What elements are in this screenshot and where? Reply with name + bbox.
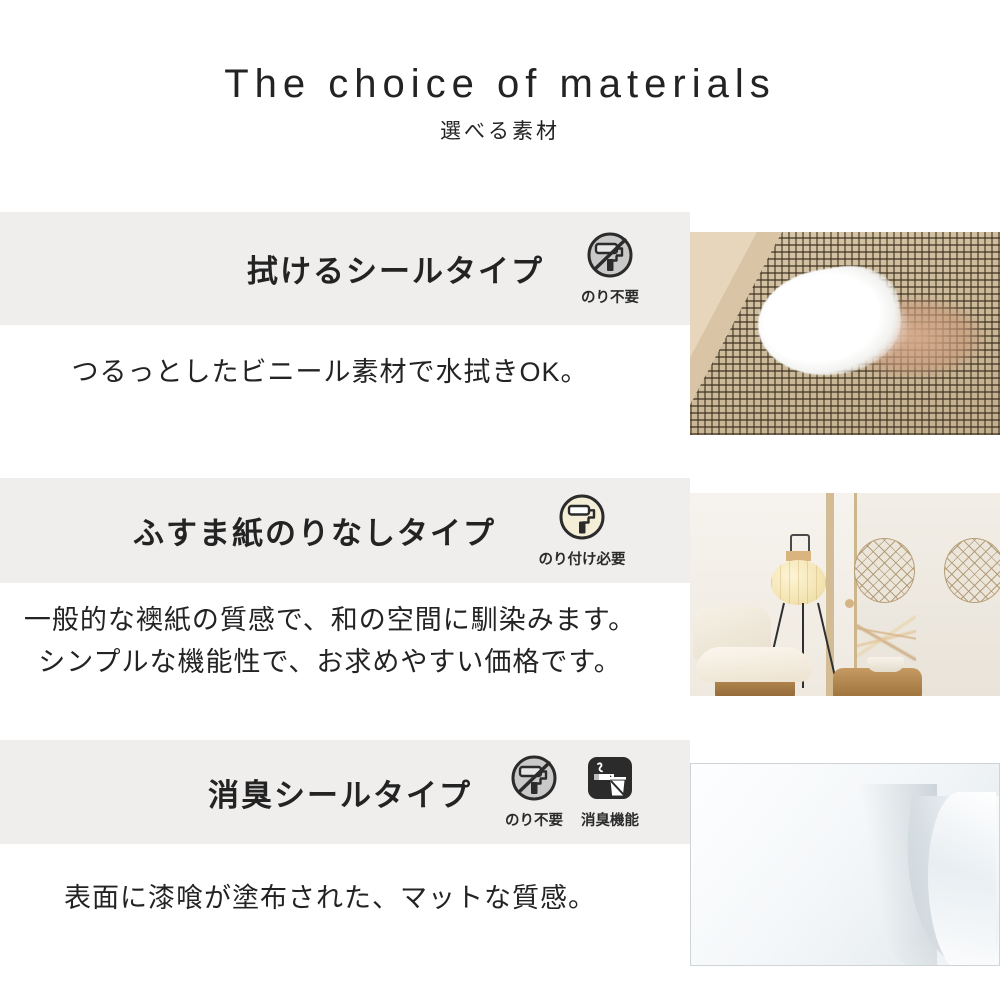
description-line: 一般的な襖紙の質感で、和の空間に馴染みます。 (0, 600, 660, 642)
section-header-2: ふすま紙のりなしタイプ のり付け必要 (0, 478, 660, 583)
page-header: The choice of materials 選べる素材 (0, 0, 1000, 200)
badge-label: のり不要 (581, 286, 639, 307)
dried-plant (857, 615, 916, 662)
section-title: ふすま紙のりなしタイプ (133, 508, 496, 553)
badge-no-glue: のり不要 (578, 231, 642, 307)
section-title: 消臭シールタイプ (208, 770, 472, 815)
section-description-3: 表面に漆喰が塗布された、マットな質感。 (0, 878, 660, 920)
no-glue-roller-icon (508, 754, 560, 806)
section-header-1: 拭けるシールタイプ のり不要 (0, 212, 660, 325)
badge-glue-required: のり付け必要 (522, 493, 642, 569)
badge-deodorize: 消臭機能 (578, 754, 642, 830)
badge-label: のり不要 (505, 809, 563, 830)
page-subtitle: 選べる素材 (0, 115, 1000, 145)
deodorize-icon (584, 754, 636, 806)
description-line: シンプルな機能性で、お求めやすい価格です。 (0, 642, 660, 684)
section-title: 拭けるシールタイプ (247, 246, 544, 291)
sheet-curl-edge (928, 792, 996, 966)
photo-japanese-interior (690, 493, 1000, 696)
photo-white-curling-sheet (690, 763, 1000, 966)
lattice-circle (854, 538, 915, 603)
description-line: 表面に漆喰が塗布された、マットな質感。 (0, 878, 660, 920)
description-line: つるっとしたビニール素材で水拭きOK。 (0, 352, 660, 394)
badge-label: のり付け必要 (539, 548, 626, 569)
badge-no-glue: のり不要 (502, 754, 566, 830)
lattice-circle (944, 538, 1000, 603)
glue-roller-icon (556, 493, 608, 545)
section-header-3: 消臭シールタイプ のり不要 (0, 740, 660, 844)
no-glue-roller-icon (584, 231, 636, 283)
plant-pot (867, 657, 904, 671)
lantern-shade (771, 560, 827, 605)
badge-group: のり不要 消臭機能 (502, 754, 642, 830)
photo-wiping-rattan-mat (690, 232, 1000, 435)
section-description-2: 一般的な襖紙の質感で、和の空間に馴染みます。 シンプルな機能性で、お求めやすい価… (0, 600, 660, 684)
section-description-1: つるっとしたビニール素材で水拭きOK。 (0, 352, 660, 394)
material-section-2: ふすま紙のりなしタイプ のり付け必要 一般的な襖紙の質感で、和の空間に馴染みます… (0, 478, 1000, 728)
side-table (833, 668, 923, 696)
badge-label: 消臭機能 (581, 809, 639, 830)
badge-group: のり付け必要 (522, 493, 642, 569)
badge-group: のり不要 (578, 231, 642, 307)
material-section-1: 拭けるシールタイプ のり不要 つるっとしたビニール素材で水拭きOK。 (0, 212, 1000, 472)
door-knob (845, 599, 854, 608)
armchair-seat (696, 647, 811, 682)
material-section-3: 消臭シールタイプ のり不要 (0, 740, 1000, 985)
page-title: The choice of materials (0, 62, 1000, 106)
